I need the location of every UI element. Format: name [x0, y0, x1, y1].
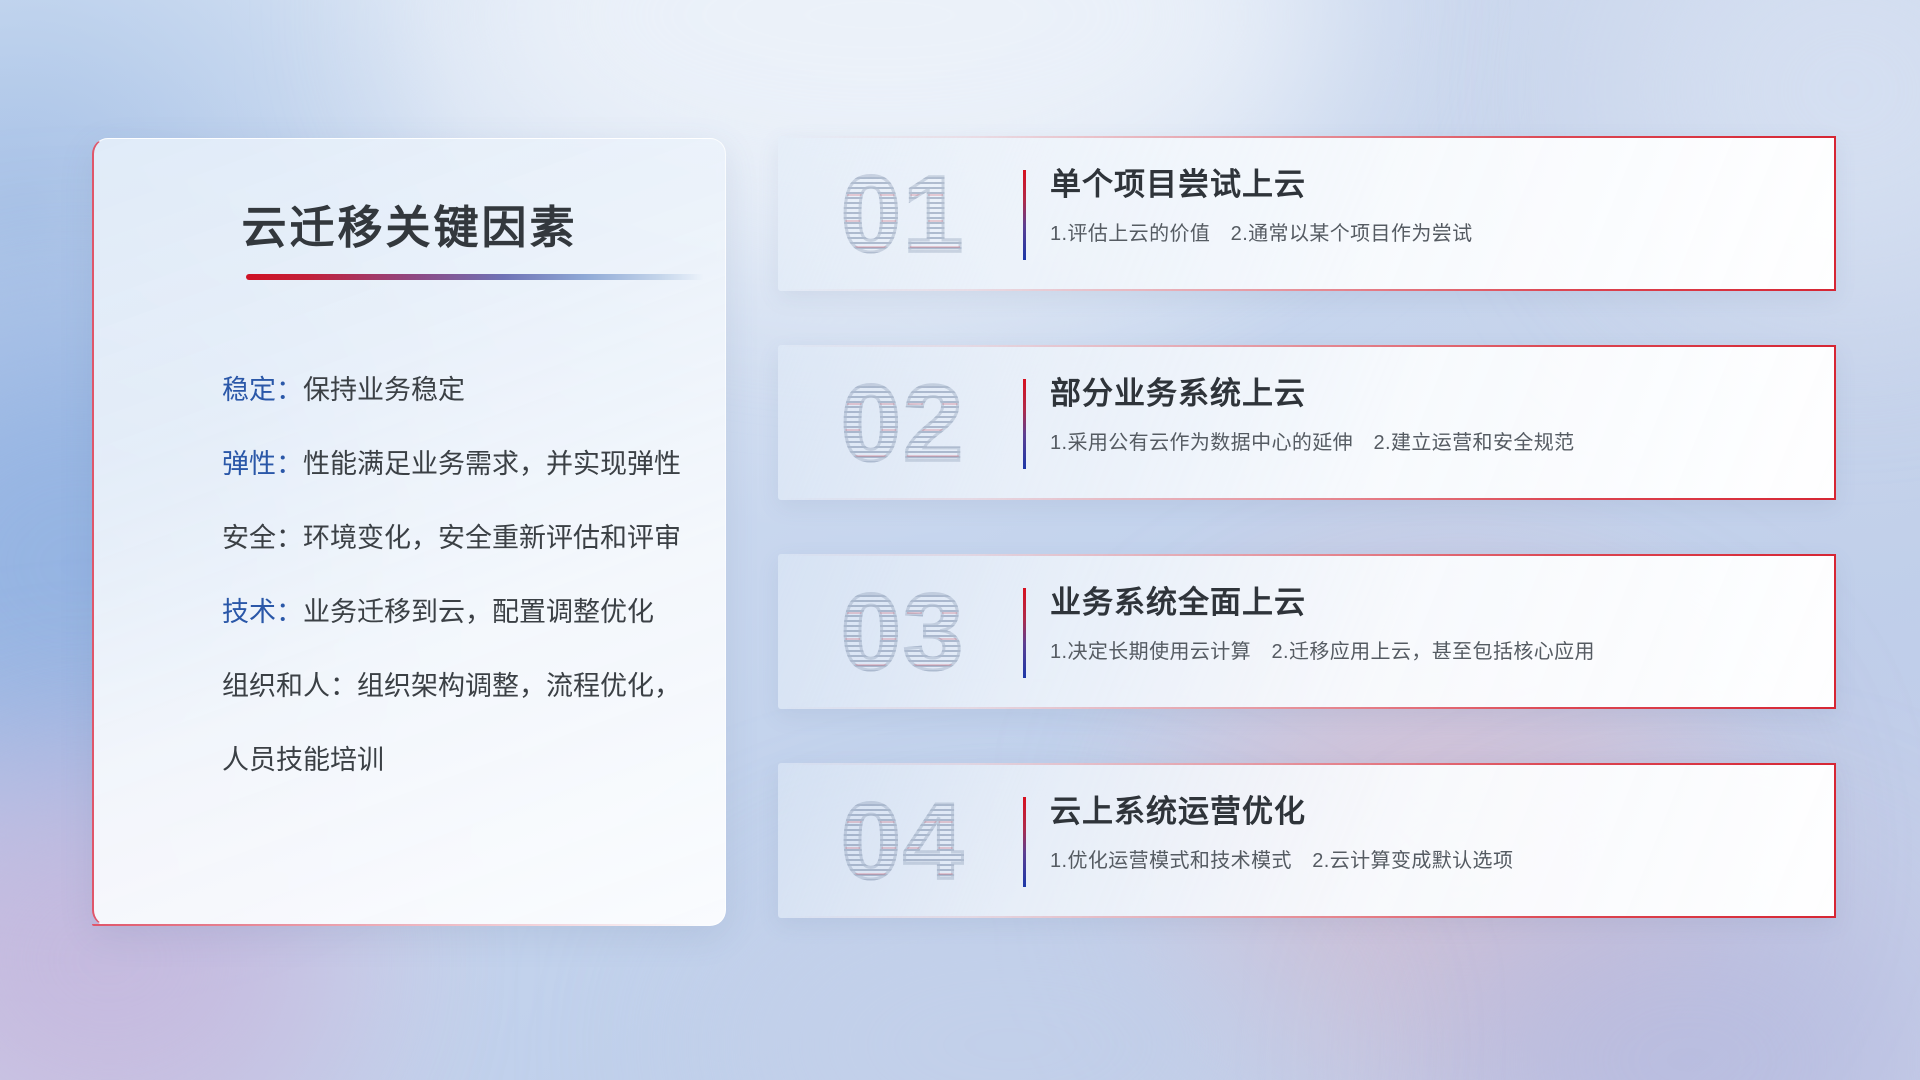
- card-title: 云上系统运营优化: [1050, 793, 1810, 832]
- key-factor-row: 安全：环境变化，安全重新评估和评审: [222, 525, 691, 552]
- key-factors-list: 稳定：保持业务稳定弹性：性能满足业务需求，并实现弹性安全：环境变化，安全重新评估…: [222, 377, 691, 774]
- stage-card[interactable]: 0101单个项目尝试上云1.评估上云的价值 2.通常以某个项目作为尝试: [778, 136, 1836, 291]
- card-frame-bottom: [778, 289, 1836, 291]
- card-frame-right: [1834, 554, 1836, 709]
- card-subtitle: 1.决定长期使用云计算 2.迁移应用上云，甚至包括核心应用: [1050, 639, 1810, 665]
- key-factor-label: 稳定：: [222, 375, 303, 405]
- key-factor-text: 环境变化，安全重新评估和评审: [303, 523, 681, 553]
- card-subtitle: 1.评估上云的价值 2.通常以某个项目作为尝试: [1050, 221, 1810, 247]
- key-factor-row: 组织和人：组织架构调整，流程优化，: [222, 673, 691, 700]
- card-frame-top: [778, 345, 1836, 347]
- stage-card-list: 0101单个项目尝试上云1.评估上云的价值 2.通常以某个项目作为尝试0202部…: [778, 136, 1836, 918]
- key-factor-row: 人员技能培训: [222, 747, 691, 774]
- key-factor-label: 弹性：: [222, 449, 303, 479]
- card-title: 部分业务系统上云: [1050, 375, 1810, 414]
- title-underline-accent: [246, 274, 704, 280]
- card-frame-bottom: [778, 498, 1836, 500]
- card-body: 业务系统全面上云1.决定长期使用云计算 2.迁移应用上云，甚至包括核心应用: [1050, 584, 1810, 665]
- page-title: 云迁移关键因素: [94, 191, 725, 256]
- card-divider-bar: [1023, 170, 1026, 260]
- card-frame-right: [1834, 136, 1836, 291]
- key-factor-text: 性能满足业务需求，并实现弹性: [303, 449, 681, 479]
- key-factors-panel: 云迁移关键因素 稳定：保持业务稳定弹性：性能满足业务需求，并实现弹性安全：环境变…: [92, 138, 726, 926]
- key-factor-text: 业务迁移到云，配置调整优化: [303, 597, 654, 627]
- card-frame-bottom: [778, 916, 1836, 918]
- card-divider-bar: [1023, 379, 1026, 469]
- card-title: 业务系统全面上云: [1050, 584, 1810, 623]
- stage-card[interactable]: 0202部分业务系统上云1.采用公有云作为数据中心的延伸 2.建立运营和安全规范: [778, 345, 1836, 500]
- stage-number: 01: [808, 142, 998, 285]
- card-frame-top: [778, 554, 1836, 556]
- key-factor-label: 组织和人：: [222, 671, 357, 701]
- key-factor-text: 人员技能培训: [222, 745, 384, 775]
- key-factor-row: 稳定：保持业务稳定: [222, 377, 691, 404]
- key-factor-row: 弹性：性能满足业务需求，并实现弹性: [222, 451, 691, 478]
- card-body: 云上系统运营优化1.优化运营模式和技术模式 2.云计算变成默认选项: [1050, 793, 1810, 874]
- slide-canvas: 云迁移关键因素 稳定：保持业务稳定弹性：性能满足业务需求，并实现弹性安全：环境变…: [0, 0, 1920, 1080]
- key-factor-row: 技术：业务迁移到云，配置调整优化: [222, 599, 691, 626]
- stage-number: 04: [808, 769, 998, 912]
- card-subtitle: 1.优化运营模式和技术模式 2.云计算变成默认选项: [1050, 848, 1810, 874]
- key-factor-text: 组织架构调整，流程优化，: [357, 671, 681, 701]
- card-body: 部分业务系统上云1.采用公有云作为数据中心的延伸 2.建立运营和安全规范: [1050, 375, 1810, 456]
- card-frame-right: [1834, 345, 1836, 500]
- card-subtitle: 1.采用公有云作为数据中心的延伸 2.建立运营和安全规范: [1050, 430, 1810, 456]
- card-divider-bar: [1023, 797, 1026, 887]
- stage-number: 02: [808, 351, 998, 494]
- key-factor-text: 保持业务稳定: [303, 375, 465, 405]
- card-frame-right: [1834, 763, 1836, 918]
- card-title: 单个项目尝试上云: [1050, 166, 1810, 205]
- stage-number: 03: [808, 560, 998, 703]
- stage-card[interactable]: 0303业务系统全面上云1.决定长期使用云计算 2.迁移应用上云，甚至包括核心应…: [778, 554, 1836, 709]
- card-frame-bottom: [778, 707, 1836, 709]
- card-frame-top: [778, 763, 1836, 765]
- card-divider-bar: [1023, 588, 1026, 678]
- card-body: 单个项目尝试上云1.评估上云的价值 2.通常以某个项目作为尝试: [1050, 166, 1810, 247]
- key-factor-label: 技术：: [222, 597, 303, 627]
- card-frame-top: [778, 136, 1836, 138]
- stage-card[interactable]: 0404云上系统运营优化1.优化运营模式和技术模式 2.云计算变成默认选项: [778, 763, 1836, 918]
- key-factor-label: 安全：: [222, 523, 303, 553]
